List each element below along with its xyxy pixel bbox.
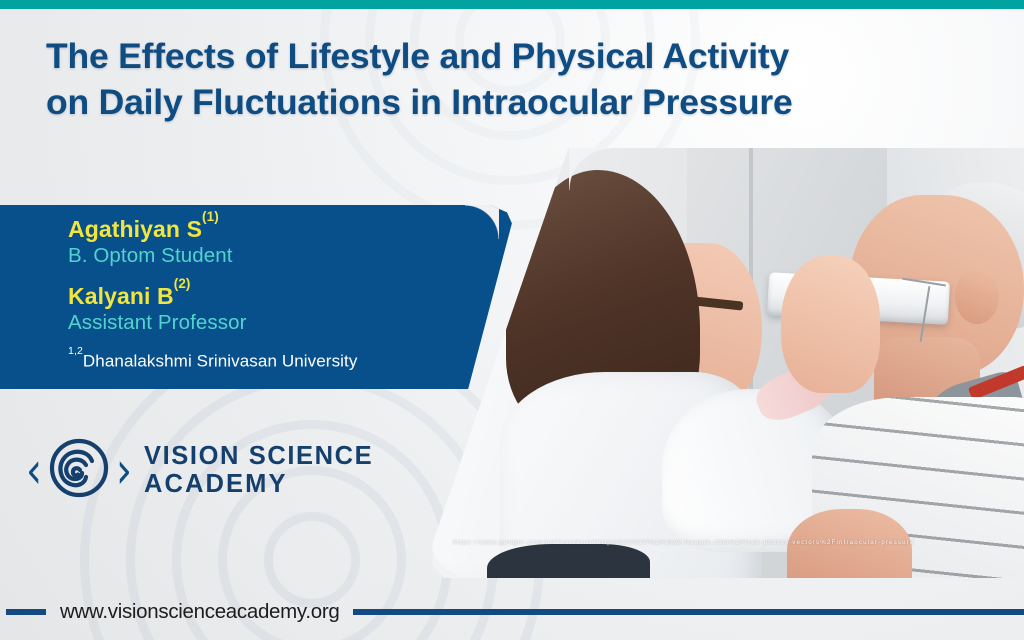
photo-corner-top-left (569, 148, 611, 190)
clinician-lap-dark (487, 544, 649, 578)
author-name-1-superscript: (1) (202, 209, 219, 224)
top-accent-bar (0, 0, 1024, 9)
page-title: The Effects of Lifestyle and Physical Ac… (46, 34, 906, 126)
author-list: Agathiyan S(1) B. Optom Student Kalyani … (68, 216, 498, 371)
logo-wordmark-line-1: VISION SCIENCE (144, 443, 373, 471)
footer-rule-left (6, 609, 46, 615)
author-name-2-superscript: (2) (174, 276, 191, 291)
eye-spiral-icon (48, 437, 110, 504)
patient-ear (955, 268, 999, 324)
footer-rule-right (353, 609, 1024, 615)
affiliation-superscript: 1,2 (68, 345, 83, 357)
footer-website-url[interactable]: www.visionscienceacademy.org (46, 600, 353, 624)
logo-wordmark: VISION SCIENCE ACADEMY (144, 443, 373, 498)
footer: www.visionscienceacademy.org (0, 584, 1024, 640)
page-title-line-2: on Daily Fluctuations in Intraocular Pre… (46, 80, 906, 126)
photo-credit-text: https://www.google.com/url?sa=i&url=http… (452, 539, 1012, 546)
author-name-1: Agathiyan S(1) (68, 216, 498, 243)
logo-mark: ‹ › (26, 437, 132, 504)
author-role-2: Assistant Professor (68, 310, 498, 337)
vision-science-academy-logo[interactable]: ‹ › VISION SCIENCE ACADEMY (26, 437, 373, 504)
left-bracket-icon: ‹ (26, 445, 42, 496)
right-bracket-icon: › (116, 445, 132, 496)
author-name-2: Kalyani B(2) (68, 283, 498, 310)
author-name-2-text: Kalyani B (68, 283, 174, 309)
author-role-1: B. Optom Student (68, 243, 498, 270)
affiliation-name: Dhanalakshmi Srinivasan University (83, 351, 358, 370)
author-name-1-text: Agathiyan S (68, 216, 202, 242)
affiliation: 1,2Dhanalakshmi Srinivasan University (68, 351, 498, 372)
clinician-hand (781, 256, 881, 394)
title-slide: https://www.google.com/url?sa=i&url=http… (0, 0, 1024, 640)
page-title-line-1: The Effects of Lifestyle and Physical Ac… (46, 34, 906, 80)
logo-wordmark-line-2: ACADEMY (144, 471, 373, 499)
